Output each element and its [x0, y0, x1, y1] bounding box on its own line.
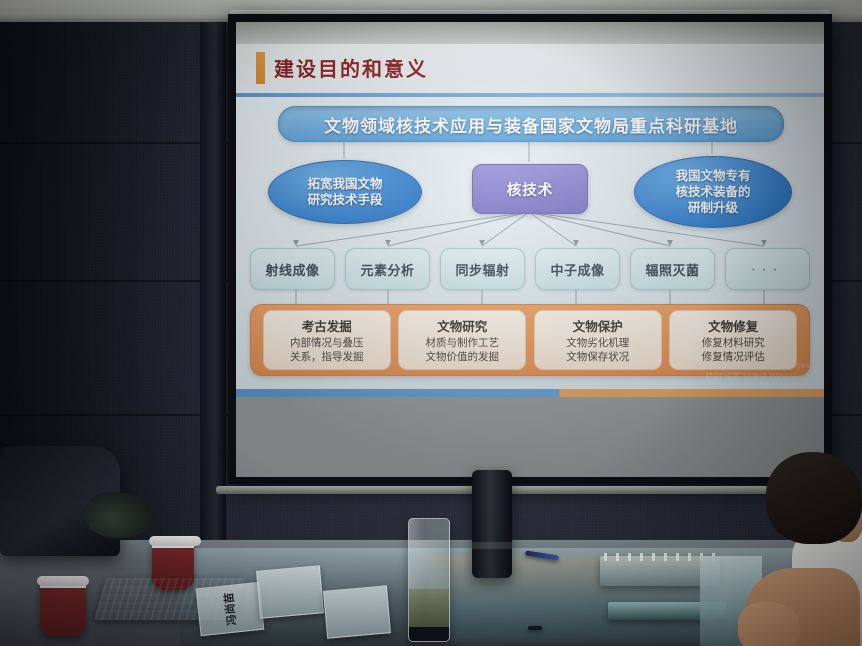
technique-label: 辐照灭菌 [645, 260, 699, 279]
application-line2: 文物保存状况 [566, 351, 629, 364]
meeting-room-photo: 建设目的和意义 [0, 0, 862, 646]
diagram-header-label: 文物领域核技术应用与装备国家文物局重点科研基地 [324, 112, 738, 137]
slide-bottom-bar [236, 389, 824, 397]
technique-row: 射线成像 元素分析 同步辐射 中子成像 辐照灭菌 ··· [250, 248, 810, 290]
application-line2: 关系，指导发掘 [290, 351, 364, 364]
thermos-cap [408, 627, 450, 642]
technique-label: 中子成像 [550, 260, 604, 279]
application-line2: 文物价值的发掘 [426, 351, 500, 364]
pen [528, 626, 542, 630]
goal-box-right: 我国文物专有 核技术装备的 研制升级 [634, 156, 792, 228]
application-title: 文物研究 [437, 316, 487, 335]
technique-label: 同步辐射 [455, 260, 509, 279]
presentation-slide: 建设目的和意义 [236, 22, 824, 397]
goal-box-left: 拓宽我国文物 研究技术手段 [268, 160, 422, 224]
wall-pillar [200, 22, 226, 542]
slide-top-strip [236, 22, 824, 44]
goal-right-label: 我国文物专有 核技术装备的 研制升级 [675, 168, 750, 216]
technique-box-ellipsis: ··· [725, 248, 810, 290]
application-box: 考古发掘 内部情况与叠压 关系，指导发掘 [263, 310, 391, 370]
application-title: 考古发掘 [302, 316, 352, 335]
technique-box: 中子成像 [535, 248, 620, 290]
technique-box: 同步辐射 [440, 248, 525, 290]
person-hand [738, 602, 800, 646]
person-head [766, 452, 862, 544]
paper-cup [40, 578, 86, 636]
title-accent-bar [256, 52, 265, 84]
cup-lid [37, 576, 89, 586]
technique-label: 元素分析 [360, 260, 414, 279]
core-technology-box: 核技术 [472, 164, 588, 214]
watermark-line-2: 转到"设置"以激活 Windows。 [706, 372, 810, 383]
name-plate [256, 565, 324, 618]
glass-tea-thermos [408, 518, 450, 642]
core-technology-label: 核技术 [507, 179, 554, 200]
application-line1: 文物劣化机理 [566, 337, 629, 350]
title-underline-rule [236, 93, 824, 97]
application-title: 文物修复 [708, 316, 758, 335]
black-tumbler [472, 470, 512, 578]
plant [86, 492, 152, 538]
technique-box: 射线成像 [250, 248, 335, 290]
technique-box: 元素分析 [345, 248, 430, 290]
technique-box: 辐照灭菌 [630, 248, 715, 290]
seated-person [738, 452, 862, 646]
projector-screen: 建设目的和意义 [236, 22, 824, 477]
name-plate-label: 冯尚苗 [220, 592, 239, 626]
tumbler-band [472, 542, 512, 549]
application-line1: 材质与制作工艺 [426, 337, 500, 350]
technique-label: 射线成像 [265, 260, 319, 279]
diagram-header-box: 文物领域核技术应用与装备国家文物局重点科研基地 [278, 106, 784, 142]
diagram: 文物领域核技术应用与装备国家文物局重点科研基地 拓宽我国文物 研究技术手段 核技… [236, 100, 824, 390]
name-plate: 冯尚苗 [196, 582, 265, 636]
application-box: 文物保护 文物劣化机理 文物保存状况 [534, 310, 662, 370]
slide-title: 建设目的和意义 [274, 53, 428, 82]
windows-activation-watermark: 激活 Windows 转到"设置"以激活 Windows。 [706, 361, 810, 383]
cup-lid [149, 536, 201, 546]
application-title: 文物保护 [573, 316, 623, 335]
application-box: 文物研究 材质与制作工艺 文物价值的发掘 [398, 310, 526, 370]
ellipsis-label: ··· [752, 261, 784, 277]
application-line1: 内部情况与叠压 [290, 337, 364, 350]
name-plate [323, 585, 391, 638]
watermark-line-1: 激活 Windows [706, 361, 810, 372]
goal-left-label: 拓宽我国文物 研究技术手段 [307, 176, 382, 208]
application-line1: 修复材料研究 [702, 337, 765, 350]
